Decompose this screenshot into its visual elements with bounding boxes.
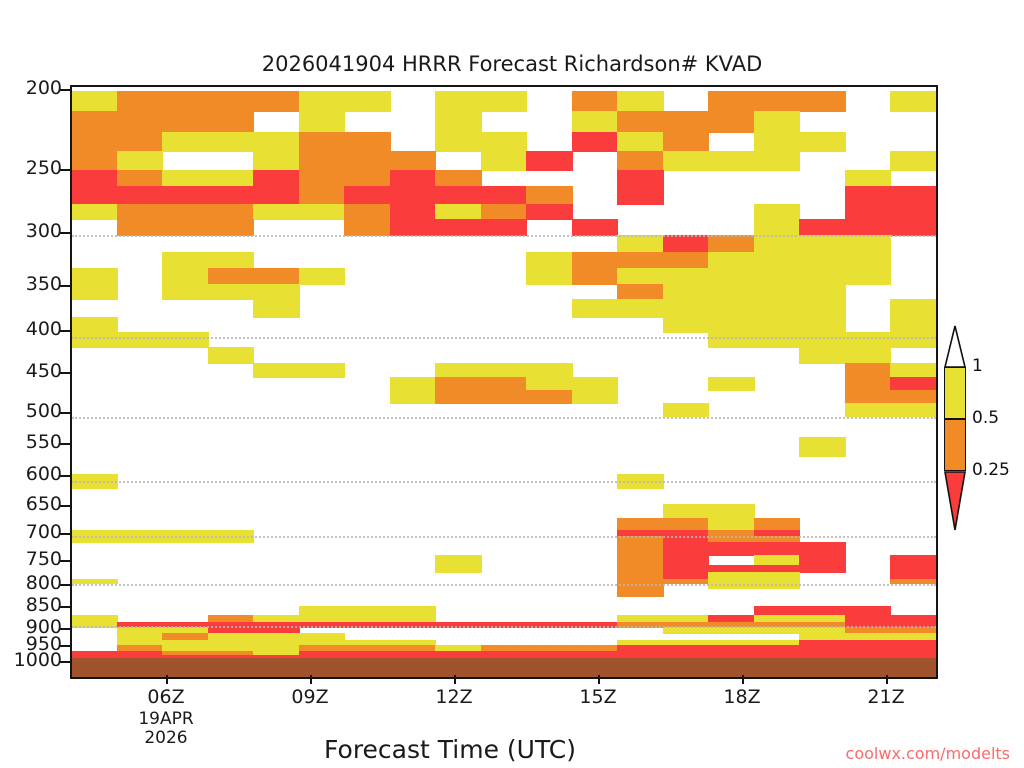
- heatmap-cell: [890, 332, 936, 348]
- heatmap-cell: [617, 235, 663, 253]
- heatmap-cell: [162, 284, 208, 300]
- heatmap-cell: [890, 204, 936, 220]
- heatmap-cell: [663, 627, 709, 634]
- heatmap-cell: [663, 111, 709, 133]
- y-tick-mark: [60, 443, 70, 445]
- colorbar-over-arrow: [944, 325, 966, 367]
- heatmap-cell: [299, 204, 345, 220]
- heatmap-cell: [253, 268, 299, 285]
- x-tick-mark: [742, 675, 744, 684]
- heatmap-cell: [435, 111, 481, 133]
- heatmap-cell: [890, 219, 936, 236]
- heatmap-cell: [208, 186, 254, 204]
- heatmap-cell: [208, 111, 254, 133]
- heatmap-cell: [708, 627, 754, 634]
- x-tick-label: 06Z: [126, 688, 206, 707]
- heatmap-cell: [663, 284, 709, 300]
- heatmap-cell: [435, 170, 481, 188]
- x-tick-label: 15Z: [558, 688, 638, 707]
- heatmap-cell: [72, 91, 118, 113]
- heatmap-cell: [708, 111, 754, 133]
- y-tick-label: 1000: [0, 651, 62, 670]
- heatmap-cell: [117, 132, 163, 151]
- y-tick-label: 350: [0, 275, 62, 294]
- heatmap-cell: [754, 284, 800, 300]
- heatmap-cell: [435, 565, 481, 573]
- heatmap-cell: [435, 132, 481, 151]
- heatmap-cell: [299, 268, 345, 285]
- heatmap-cell: [344, 170, 390, 188]
- heatmap-cell: [845, 332, 891, 348]
- heatmap-cell: [708, 91, 754, 113]
- heatmap-cell: [890, 317, 936, 334]
- heatmap-cell: [344, 204, 390, 220]
- heatmap-cell: [845, 390, 891, 404]
- y-tick-mark: [60, 560, 70, 562]
- heatmap-cell: [708, 332, 754, 348]
- heatmap-cell: [663, 151, 709, 171]
- heatmap-cell: [572, 219, 618, 236]
- x-tick-label: 21Z: [846, 688, 926, 707]
- heatmap-cell: [253, 170, 299, 188]
- heatmap-cell: [117, 332, 163, 348]
- heatmap-cell: [162, 170, 208, 188]
- heatmap-cell: [754, 332, 800, 348]
- heatmap-cell: [663, 403, 709, 417]
- heatmap-cell: [754, 132, 800, 151]
- heatmap-cell: [526, 151, 572, 171]
- heatmap-cell: [663, 268, 709, 285]
- x-tick-label: 18Z: [702, 688, 782, 707]
- chart-page: 2026041904 HRRR Forecast Richardson# KVA…: [0, 0, 1024, 768]
- heatmap-cell: [617, 151, 663, 171]
- heatmap-cell: [799, 252, 845, 270]
- heatmap-cell: [754, 151, 800, 171]
- heatmap-cell: [572, 390, 618, 404]
- y-tick-label: 800: [0, 574, 62, 593]
- heatmap-cell: [208, 132, 254, 151]
- heatmap-cell: [481, 204, 527, 220]
- heatmap-cell: [708, 504, 754, 519]
- heatmap-cell: [72, 268, 118, 285]
- y-tick-mark: [60, 330, 70, 332]
- heatmap-cell: [754, 252, 800, 270]
- heatmap-cell: [481, 91, 527, 113]
- heatmap-cell: [890, 299, 936, 317]
- x-tick-label: 09Z: [270, 688, 350, 707]
- heatmap-cell: [208, 252, 254, 270]
- heatmap-cell: [117, 204, 163, 220]
- heatmap-cell: [845, 170, 891, 188]
- heatmap-cell: [845, 252, 891, 270]
- heatmap-cell: [208, 170, 254, 188]
- heatmap-cell: [754, 542, 800, 556]
- heatmap-cell: [754, 235, 800, 253]
- gridline: [72, 536, 936, 538]
- heatmap-cell: [845, 268, 891, 285]
- heatmap-cell: [162, 204, 208, 220]
- heatmap-cell: [435, 390, 481, 404]
- heatmap-cell: [344, 132, 390, 151]
- y-tick-label: 200: [0, 79, 62, 98]
- y-tick-label: 700: [0, 523, 62, 542]
- heatmap-cell: [799, 268, 845, 285]
- heatmap-cell: [708, 268, 754, 285]
- y-tick-label: 450: [0, 362, 62, 381]
- heatmap-cell: [799, 219, 845, 236]
- heatmap-cell: [708, 299, 754, 317]
- y-tick-label: 850: [0, 596, 62, 615]
- gridline: [72, 481, 936, 483]
- y-tick-label: 650: [0, 495, 62, 514]
- heatmap-cell: [299, 111, 345, 133]
- x-tick-label: 12Z: [414, 688, 494, 707]
- heatmap-cell: [253, 91, 299, 113]
- heatmap-cell: [845, 403, 891, 417]
- y-tick-mark: [60, 606, 70, 608]
- heatmap-cell: [617, 132, 663, 151]
- heatmap-cell: [799, 347, 845, 363]
- heatmap-cell: [890, 403, 936, 417]
- gridline: [72, 417, 936, 419]
- heatmap-cell: [299, 170, 345, 188]
- heatmap-cell: [162, 91, 208, 113]
- heatmap-cell: [344, 219, 390, 236]
- heatmap-cell: [344, 186, 390, 204]
- y-tick-label: 750: [0, 550, 62, 569]
- y-tick-mark: [60, 628, 70, 630]
- y-tick-label: 550: [0, 433, 62, 452]
- y-tick-mark: [60, 661, 70, 663]
- heatmap-cell: [253, 204, 299, 220]
- heatmap-cell: [162, 219, 208, 236]
- gridline: [72, 337, 936, 339]
- heatmap-cell: [72, 317, 118, 334]
- heatmap-cell: [617, 252, 663, 270]
- x-axis-title: Forecast Time (UTC): [0, 735, 900, 764]
- heatmap-cell: [799, 437, 845, 458]
- heatmap-cell: [481, 390, 527, 404]
- heatmap-cell: [481, 132, 527, 151]
- heatmap-cell: [117, 111, 163, 133]
- heatmap-cell: [572, 132, 618, 151]
- heatmap-cell: [799, 132, 845, 151]
- heatmap-cell: [299, 363, 345, 379]
- heatmap-cell: [390, 390, 436, 404]
- heatmap-cell: [572, 91, 618, 113]
- y-tick-mark: [60, 475, 70, 477]
- y-tick-mark: [60, 505, 70, 507]
- gridline: [72, 626, 936, 628]
- page-title: 2026041904 HRRR Forecast Richardson# KVA…: [0, 52, 1024, 76]
- heatmap-cell: [526, 204, 572, 220]
- y-tick-label: 600: [0, 465, 62, 484]
- heatmap-cell: [617, 299, 663, 317]
- y-tick-label: 250: [0, 159, 62, 178]
- heatmap-cell: [253, 363, 299, 379]
- heatmap-cell: [526, 268, 572, 285]
- heatmap-cell: [708, 542, 754, 556]
- y-tick-mark: [60, 584, 70, 586]
- heatmap-cell: [72, 284, 118, 300]
- colorbar-segment: [944, 419, 966, 471]
- y-tick-label: 300: [0, 222, 62, 241]
- heatmap-cell: [890, 390, 936, 404]
- heatmap-cell: [845, 219, 891, 236]
- colorbar-segment: [944, 367, 966, 419]
- heatmap-cell: [481, 186, 527, 204]
- heatmap-cell: [845, 186, 891, 204]
- watermark: coolwx.com/modelts: [846, 744, 1010, 763]
- heatmap-cell: [845, 377, 891, 391]
- heatmap-cell: [754, 317, 800, 334]
- heatmap-cell: [117, 91, 163, 113]
- heatmap-cell: [481, 219, 527, 236]
- heatmap-cell: [117, 219, 163, 236]
- heatmap-cell: [799, 317, 845, 334]
- heatmap-cell: [572, 377, 618, 391]
- heatmap-cell: [754, 219, 800, 236]
- heatmap-cell: [799, 91, 845, 113]
- heatmap-cell: [526, 377, 572, 391]
- heatmap-cell: [845, 363, 891, 379]
- heatmap-cell: [208, 268, 254, 285]
- y-tick-label: 400: [0, 320, 62, 339]
- heatmap-cell: [299, 91, 345, 113]
- heatmap-cell: [617, 91, 663, 113]
- heatmap-cell: [845, 235, 891, 253]
- heatmap-cell: [799, 565, 845, 573]
- y-tick-mark: [60, 533, 70, 535]
- heatmap-cell: [890, 363, 936, 379]
- heatmap-canvas[interactable]: [72, 87, 936, 677]
- heatmap-cell: [845, 347, 891, 363]
- heatmap-cell: [299, 132, 345, 151]
- heatmap-cell: [708, 252, 754, 270]
- x-tick-mark: [598, 675, 600, 684]
- heatmap-cell: [72, 111, 118, 133]
- y-tick-label: 500: [0, 402, 62, 421]
- heatmap-cell: [390, 151, 436, 171]
- heatmap-cell: [799, 284, 845, 300]
- heatmap-cell: [708, 284, 754, 300]
- heatmap-cell: [72, 332, 118, 348]
- y-tick-mark: [60, 645, 70, 647]
- y-tick-mark: [60, 169, 70, 171]
- x-tick-mark: [454, 675, 456, 684]
- heatmap-cell: [754, 204, 800, 220]
- x-axis-date-line: 19APR: [106, 710, 226, 729]
- heatmap-cell: [208, 347, 254, 363]
- heatmap-cell: [708, 317, 754, 334]
- heatmap-cell: [208, 284, 254, 300]
- heatmap-cell: [708, 235, 754, 253]
- heatmap-cell: [253, 284, 299, 300]
- x-tick-mark: [310, 675, 312, 684]
- heatmap-cell: [208, 91, 254, 113]
- heatmap-cell: [344, 151, 390, 171]
- colorbar-tick-label: 0.5: [972, 410, 999, 427]
- heatmap-cell: [72, 132, 118, 151]
- heatmap-cell: [435, 204, 481, 220]
- heatmap-cell: [617, 170, 663, 188]
- heatmap-cell: [890, 377, 936, 391]
- heatmap-cell: [617, 111, 663, 133]
- heatmap-cell: [617, 542, 663, 556]
- heatmap-cell: [754, 111, 800, 133]
- y-tick-mark: [60, 412, 70, 414]
- heatmap-cell: [617, 588, 663, 597]
- heatmap-cell: [663, 132, 709, 151]
- y-tick-mark: [60, 285, 70, 287]
- terrain-band: [72, 658, 936, 677]
- heatmap-cell: [299, 151, 345, 171]
- heatmap-cell: [572, 111, 618, 133]
- heatmap-cell: [72, 170, 118, 188]
- heatmap-cell: [162, 252, 208, 270]
- y-tick-mark: [60, 372, 70, 374]
- heatmap-cell: [845, 204, 891, 220]
- heatmap-cell: [663, 235, 709, 253]
- heatmap-cell: [754, 299, 800, 317]
- heatmap-cell: [253, 151, 299, 171]
- x-tick-mark: [886, 675, 888, 684]
- heatmap-cell: [253, 186, 299, 204]
- y-tick-mark: [60, 232, 70, 234]
- gridline: [72, 584, 936, 586]
- heatmap-cell: [117, 170, 163, 188]
- heatmap-cell: [162, 332, 208, 348]
- heatmap-cell: [890, 91, 936, 113]
- heatmap-cell: [799, 332, 845, 348]
- heatmap-cell: [208, 219, 254, 236]
- heatmap-cell: [390, 204, 436, 220]
- heatmap-cell: [663, 504, 709, 519]
- heatmap-cell: [435, 219, 481, 236]
- heatmap-cell: [617, 186, 663, 204]
- heatmap-cell: [890, 186, 936, 204]
- colorbar-under-arrow: [944, 471, 966, 531]
- heatmap-cell: [663, 252, 709, 270]
- heatmap-cell: [799, 235, 845, 253]
- heatmap-cell: [162, 186, 208, 204]
- heatmap-cell: [253, 132, 299, 151]
- heatmap-cell: [162, 268, 208, 285]
- heatmap-cell: [754, 268, 800, 285]
- heatmap-cell: [663, 542, 709, 556]
- heatmap-cell: [390, 170, 436, 188]
- heatmap-cell: [253, 299, 299, 317]
- heatmap-cell: [481, 377, 527, 391]
- heatmap-cell: [208, 204, 254, 220]
- heatmap-cell: [572, 299, 618, 317]
- heatmap-cell: [117, 186, 163, 204]
- heatmap-cell: [617, 284, 663, 300]
- heatmap-cell: [72, 186, 118, 204]
- heatmap-cell: [799, 542, 845, 556]
- heatmap-cell: [72, 151, 118, 171]
- heatmap-cell: [390, 186, 436, 204]
- heatmap-cell: [162, 111, 208, 133]
- heatmap-cell: [663, 317, 709, 334]
- heatmap-cell: [162, 132, 208, 151]
- heatmap-cell: [435, 377, 481, 391]
- heatmap-cell: [72, 204, 118, 220]
- heatmap-cell: [708, 151, 754, 171]
- heatmap-cell: [617, 268, 663, 285]
- heatmap-cell: [799, 299, 845, 317]
- heatmap-cell: [390, 219, 436, 236]
- colorbar-tick-label: 0.25: [972, 462, 1010, 479]
- heatmap-cell: [390, 377, 436, 391]
- colorbar-tick-label: 1: [972, 358, 983, 375]
- heatmap-cell: [526, 363, 572, 379]
- heatmap-cell: [299, 186, 345, 204]
- heatmap-cell: [708, 377, 754, 391]
- plot-area[interactable]: [70, 85, 938, 679]
- heatmap-cell: [435, 186, 481, 204]
- heatmap-cell: [526, 252, 572, 270]
- gridline: [72, 235, 936, 237]
- heatmap-cell: [526, 186, 572, 204]
- y-tick-mark: [60, 89, 70, 91]
- heatmap-cell: [890, 151, 936, 171]
- heatmap-cell: [526, 390, 572, 404]
- heatmap-cell: [663, 299, 709, 317]
- heatmap-cell: [754, 91, 800, 113]
- heatmap-cell: [481, 151, 527, 171]
- heatmap-cell: [754, 627, 800, 634]
- heatmap-cell: [435, 91, 481, 113]
- heatmap-cell: [481, 363, 527, 379]
- x-tick-mark: [166, 675, 168, 684]
- heatmap-cell: [344, 91, 390, 113]
- heatmap-cell: [435, 363, 481, 379]
- heatmap-cell: [117, 151, 163, 171]
- heatmap-cell: [572, 268, 618, 285]
- heatmap-cell: [572, 252, 618, 270]
